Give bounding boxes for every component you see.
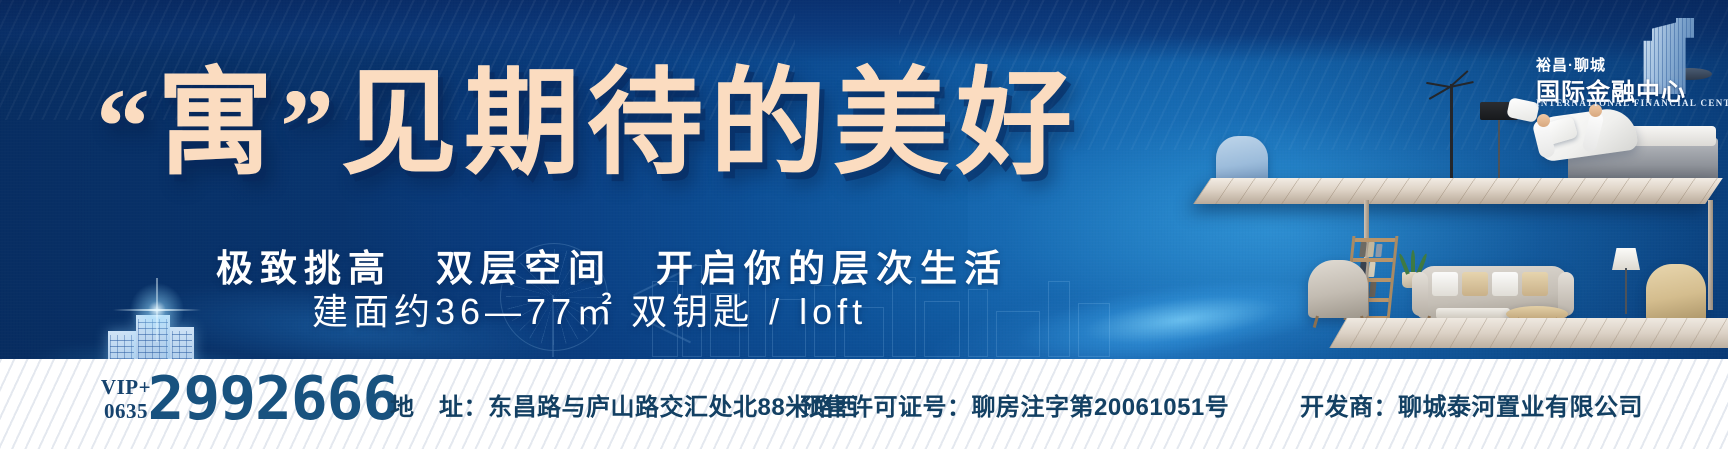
bottom-info-bar: VIP+ 0635 2992666 地 址：东昌路与庐山路交汇处北88米路西 预…: [0, 359, 1728, 449]
subtitle-area-range: 建面约36—77: [312, 291, 576, 332]
lounge-armchair-left: [1308, 260, 1368, 318]
project-logo: 裕昌·聊城 国际金融中心 INTERNATIONAL FINANCIAL CEN…: [1534, 16, 1710, 112]
presale-permit-label: 预售许可证号：: [800, 394, 972, 421]
advertisement-banner: 裕昌·聊城 国际金融中心 INTERNATIONAL FINANCIAL CEN…: [0, 0, 1728, 449]
headline-quote-close: ”: [280, 68, 341, 187]
headline-rest: 见期待的美好: [341, 61, 1079, 189]
presale-permit-info: 预售许可证号：聊房注字第20061051号: [800, 387, 1229, 422]
address-label: 地 址：: [390, 394, 488, 421]
subtitle-secondary: 建面约36—77㎡双钥匙 / loft: [312, 283, 1212, 335]
headline-text: “寓”见期待的美好: [96, 66, 1186, 184]
headline-keyword: 寓: [157, 61, 280, 189]
phone-number[interactable]: 2992666: [148, 367, 399, 431]
lower-floor-slab: [1329, 318, 1728, 348]
logo-english-name: INTERNATIONAL FINANCIAL CENTER: [1536, 98, 1728, 108]
lounge-armchair-right: [1646, 264, 1706, 322]
presale-permit-value: 聊房注字第20061051号: [972, 394, 1230, 421]
vip-hotline-prefix: VIP+ 0635: [100, 375, 152, 423]
headline-quote-open: “: [96, 68, 157, 187]
upper-floor-slab: [1193, 178, 1723, 204]
developer-value: 聊城泰河置业有限公司: [1398, 394, 1643, 421]
developer-label: 开发商：: [1300, 394, 1398, 421]
developer-info: 开发商：聊城泰河置业有限公司: [1300, 387, 1643, 422]
subtitle-loft-label: 双钥匙 / loft: [631, 291, 867, 332]
area-code-label: 0635: [100, 399, 152, 423]
address-info: 地 址：东昌路与庐山路交汇处北88米路西: [390, 387, 859, 422]
subtitle-area-unit: ㎡: [576, 291, 617, 332]
vip-label: VIP+: [100, 375, 152, 399]
